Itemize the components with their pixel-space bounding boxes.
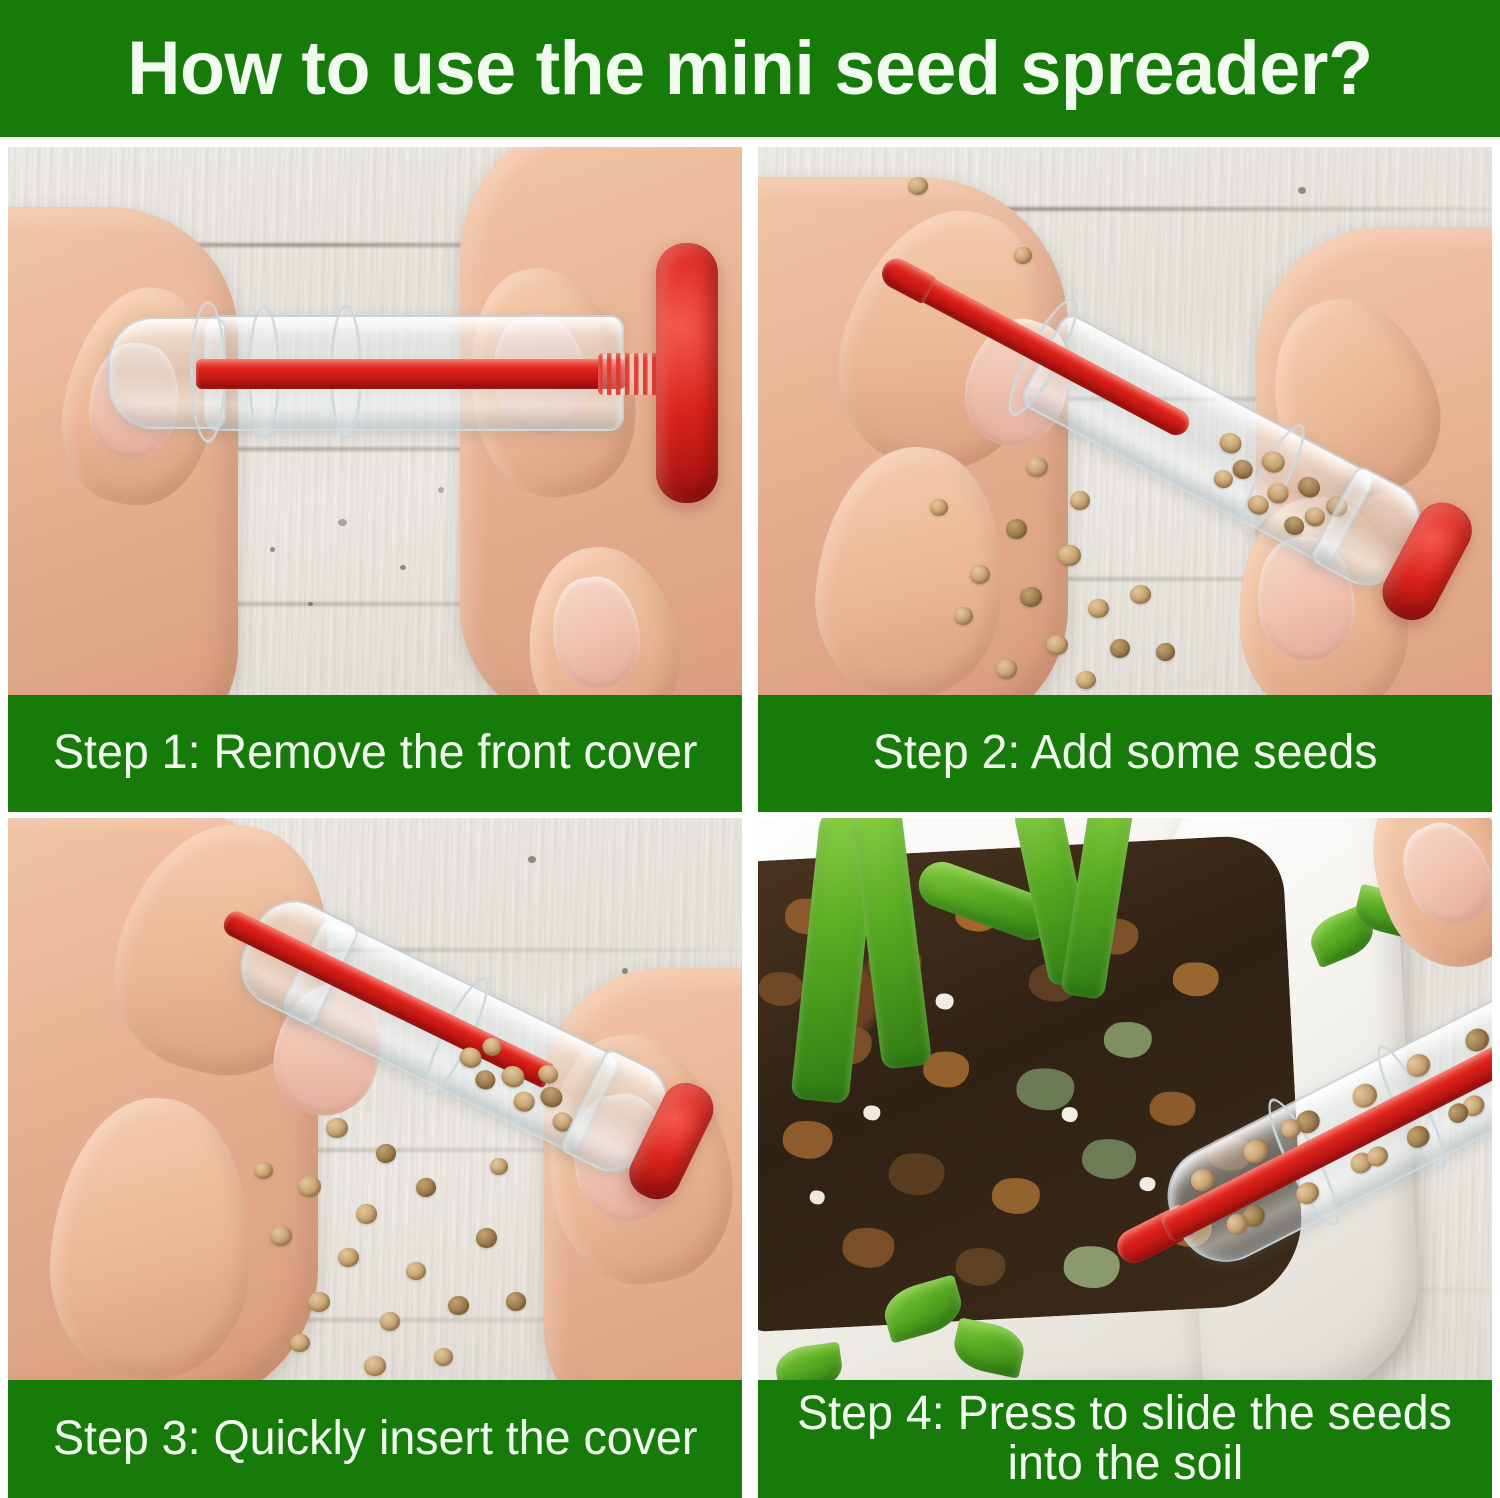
step-1-caption: Step 1: Remove the front cover — [8, 695, 742, 812]
title-banner: How to use the mini seed spreader? — [0, 0, 1500, 137]
step-panel-1: Step 1: Remove the front cover — [8, 147, 742, 812]
step-3-caption: Step 3: Quickly insert the cover — [8, 1380, 742, 1498]
step-3-caption-line-1: Step 3: Quickly insert the cover — [53, 1415, 697, 1464]
step-panel-3: Step 3: Quickly insert the cover — [8, 818, 742, 1498]
page-title: How to use the mini seed spreader? — [127, 25, 1372, 112]
step-1-caption-line-1: Step 1: Remove the front cover — [53, 729, 697, 778]
step-panel-2: Step 2: Add some seeds — [758, 147, 1492, 812]
red-disc-handle — [656, 243, 718, 503]
step-2-caption: Step 2: Add some seeds — [758, 695, 1492, 812]
step-4-caption-line-1: Step 4: Press to slide the seeds — [798, 1389, 1453, 1439]
infographic-root: How to use the mini seed spreader? — [0, 0, 1500, 1498]
step-4-caption: Step 4: Press to slide the seeds into th… — [758, 1380, 1492, 1498]
step-2-caption-line-1: Step 2: Add some seeds — [873, 729, 1378, 778]
steps-grid: Step 1: Remove the front cover — [8, 147, 1492, 1498]
step-4-caption-line-2: into the soil — [1007, 1439, 1243, 1489]
step-panel-4: Step 4: Press to slide the seeds into th… — [758, 818, 1492, 1498]
step-1-photo — [8, 147, 742, 695]
step-2-photo — [758, 147, 1492, 695]
red-plunger-rod — [196, 359, 626, 389]
step-4-photo — [758, 818, 1492, 1380]
step-3-photo — [8, 818, 742, 1380]
